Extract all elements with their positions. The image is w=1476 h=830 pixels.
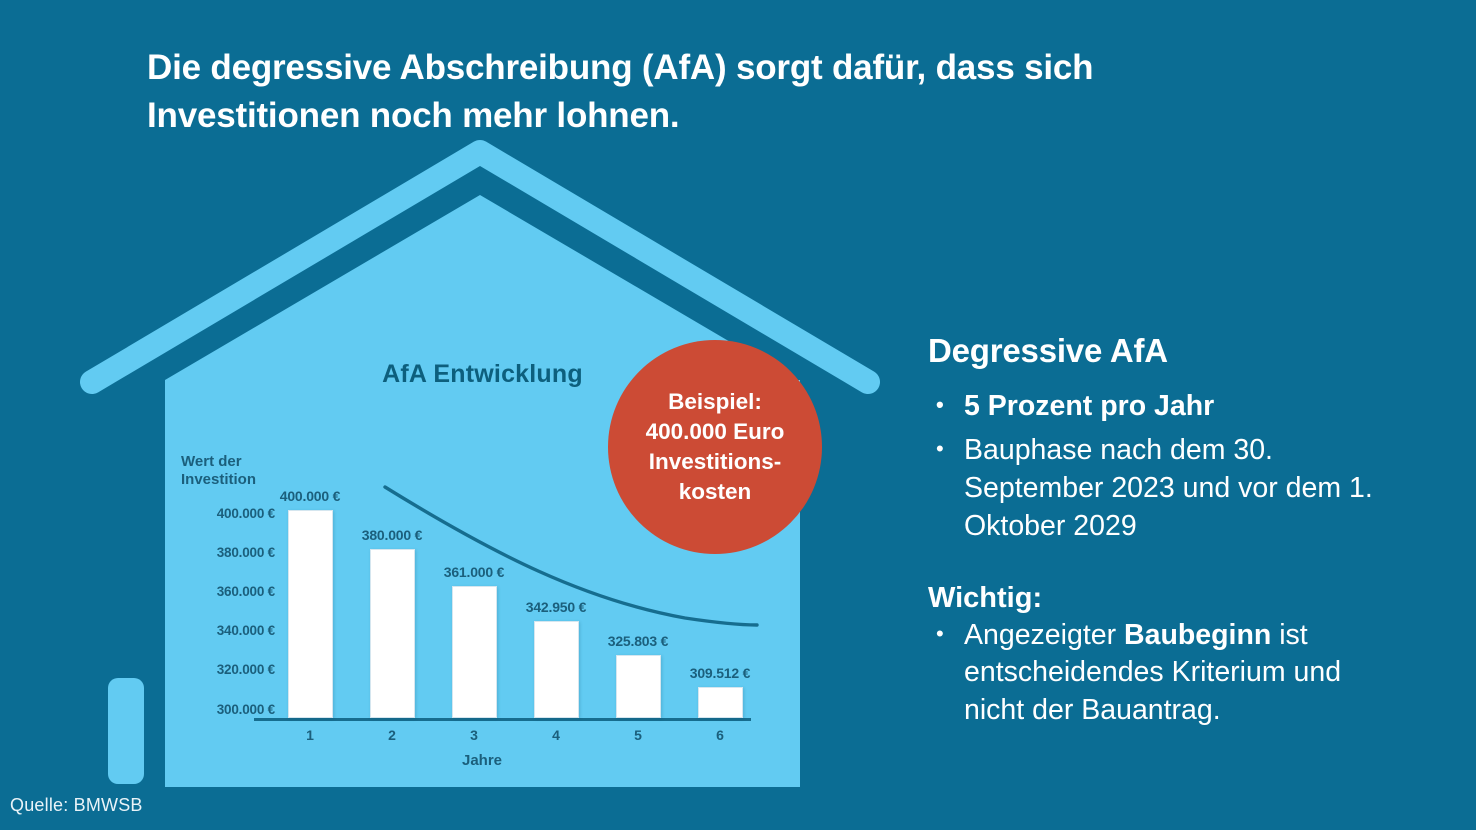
bar-value-label: 325.803 € (578, 633, 698, 649)
y-tick-label: 380.000 € (179, 545, 275, 560)
list-item: Angezeigter Baubeginn ist entscheidendes… (928, 617, 1398, 731)
callout-line: 400.000 Euro (646, 417, 785, 447)
chart-baseline (254, 718, 751, 721)
info-panel: Degressive AfA 5 Prozent pro Jahr Baupha… (928, 332, 1398, 736)
y-tick-label: 320.000 € (179, 662, 275, 677)
y-tick-label: 360.000 € (179, 584, 275, 599)
y-tick-label: 340.000 € (179, 623, 275, 638)
x-tick-label: 4 (536, 727, 576, 743)
y-tick-label: 300.000 € (179, 702, 275, 717)
panel-spacer (928, 552, 1398, 582)
note-prefix: Angezeigter (964, 619, 1124, 651)
callout-line: Investitions- (649, 447, 782, 477)
chimney-shape (108, 678, 144, 784)
x-axis-title: Jahre (422, 752, 542, 769)
bar-year-4 (534, 621, 579, 718)
x-tick-label: 3 (454, 727, 494, 743)
callout-line: Beispiel: (668, 387, 762, 417)
y-axis-title: Wert der Investition (181, 453, 291, 490)
callout-line: kosten (679, 477, 752, 507)
bar-value-label: 309.512 € (660, 665, 780, 681)
bar-value-label: 342.950 € (496, 599, 616, 615)
bar-value-label: 361.000 € (414, 564, 534, 580)
bar-value-label: 400.000 € (250, 488, 370, 504)
x-tick-label: 6 (700, 727, 740, 743)
list-item: Bauphase nach dem 30. September 2023 und… (928, 432, 1398, 546)
panel-note-list: Angezeigter Baubeginn ist entscheidendes… (928, 617, 1398, 731)
infographic-slide: Die degressive Abschreibung (AfA) sorgt … (0, 0, 1476, 830)
bar-year-5 (616, 655, 661, 718)
bar-value-label: 380.000 € (332, 527, 452, 543)
bar-year-2 (370, 549, 415, 718)
x-tick-label: 2 (372, 727, 412, 743)
y-tick-label: 400.000 € (179, 506, 275, 521)
bar-year-1 (288, 510, 333, 718)
page-title: Die degressive Abschreibung (AfA) sorgt … (147, 44, 1237, 141)
list-item: 5 Prozent pro Jahr (928, 388, 1398, 426)
panel-title: Degressive AfA (928, 332, 1398, 370)
note-strong: Baubeginn (1124, 619, 1271, 651)
example-callout-circle: Beispiel: 400.000 Euro Investitions- kos… (608, 340, 822, 554)
source-attribution: Quelle: BMWSB (10, 795, 143, 816)
panel-note-title: Wichtig: (928, 582, 1398, 615)
bar-year-3 (452, 586, 497, 718)
x-tick-label: 1 (290, 727, 330, 743)
bar-year-6 (698, 687, 743, 718)
x-tick-label: 5 (618, 727, 658, 743)
panel-bullet-list: 5 Prozent pro Jahr Bauphase nach dem 30.… (928, 388, 1398, 546)
